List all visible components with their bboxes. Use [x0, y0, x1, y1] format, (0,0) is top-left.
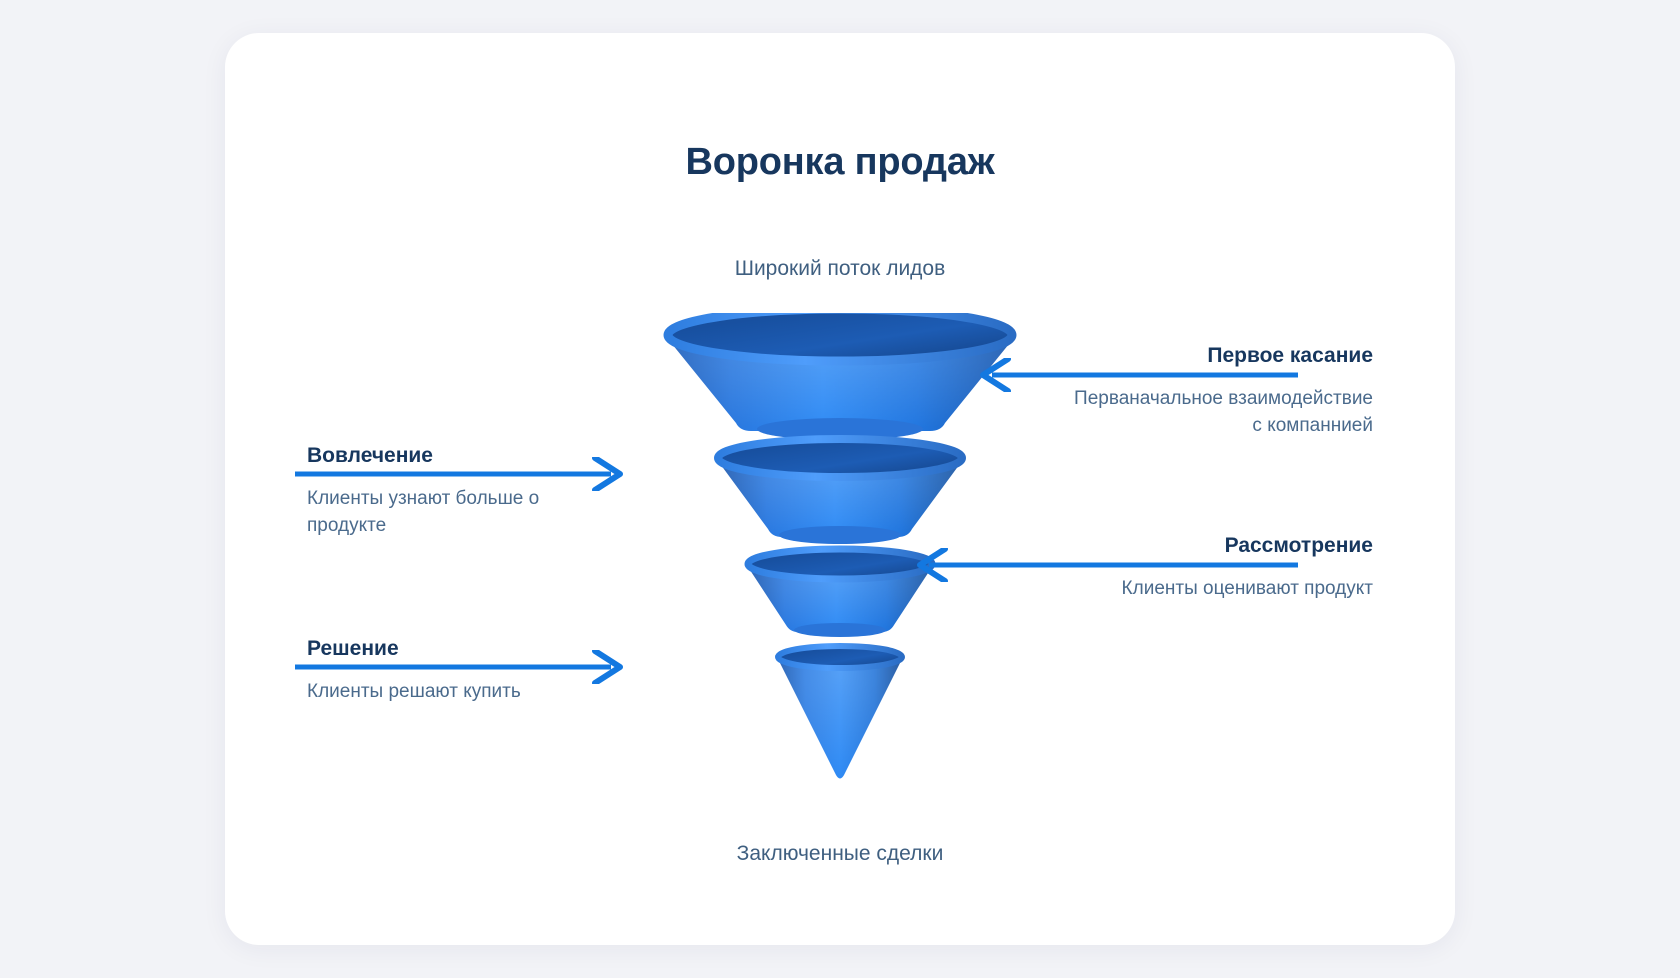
callout-consideration: Рассмотрение Клиенты оценивают продукт [1063, 533, 1373, 602]
page-title: Воронка продаж [225, 141, 1455, 184]
callout-title: Решение [307, 636, 617, 662]
funnel-infographic: Воронка продаж Широкий поток лидов Заклю… [0, 0, 1680, 978]
caption-top-lead-flow: Широкий поток лидов [660, 253, 1020, 284]
callout-description: Клиенты решают купить [307, 678, 617, 705]
funnel-segment-1 [668, 313, 1013, 440]
callout-first-touch: Первое касание Перваначальное взаимодейс… [1063, 343, 1373, 439]
callout-description: Перваначальное взаимодействие с компанни… [1063, 385, 1373, 439]
funnel-segment-4 [778, 646, 902, 779]
callout-description: Клиенты узнают больше о продукте [307, 485, 617, 539]
caption-bottom-closed-deals: Заключенные сделки [660, 838, 1020, 869]
callout-title: Вовлечение [307, 443, 617, 469]
funnel-segment-3 [748, 549, 932, 637]
funnel-segment-2 [718, 439, 962, 544]
callout-title: Рассмотрение [1063, 533, 1373, 559]
callout-description: Клиенты оценивают продукт [1063, 575, 1373, 602]
callout-engagement: Вовлечение Клиенты узнают больше о проду… [307, 443, 617, 539]
callout-decision: Решение Клиенты решают купить [307, 636, 617, 705]
callout-title: Первое касание [1063, 343, 1373, 369]
content-card: Воронка продаж Широкий поток лидов Заклю… [225, 33, 1455, 945]
